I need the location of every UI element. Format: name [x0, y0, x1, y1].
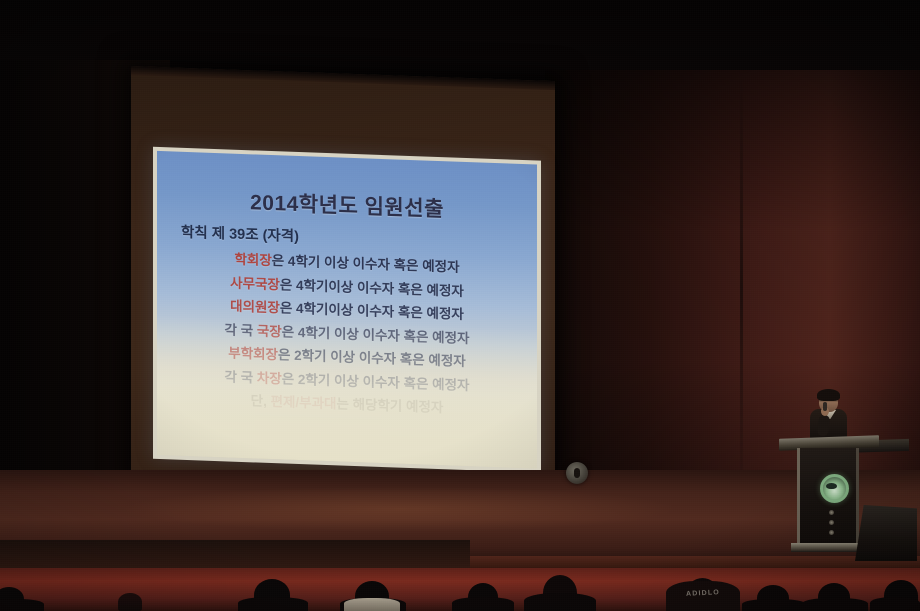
- presenter-hair: [817, 389, 840, 401]
- projected-slide: 2014학년도 임원선출 학칙 제 39조 (자격) 학회장은 4학기 이상 이…: [157, 151, 537, 469]
- bullet-role: 부학회장: [228, 345, 278, 362]
- audience-jacket: ADIDLO: [666, 581, 740, 611]
- bullet-prefix: 각 국: [225, 369, 257, 385]
- podium: [795, 437, 861, 552]
- audience-shoulders: [238, 597, 308, 611]
- stage-floor-sheen: [120, 486, 680, 532]
- podium-body: [797, 448, 859, 545]
- audience-shoulders: [452, 597, 514, 611]
- bullet-rest: 는 해당학기 예정자: [336, 396, 443, 415]
- podium-indicator-light: [829, 510, 834, 515]
- bullet-rest: 은 2학기 이상 이수자 혹은 예정자: [278, 347, 466, 369]
- slide-title: 2014학년도 임원선출: [167, 183, 527, 226]
- audience-scarf: [344, 598, 400, 611]
- presenter: [806, 391, 850, 443]
- audience-head: [118, 593, 142, 611]
- audience-shoulders: [870, 597, 920, 611]
- bullet-role: 대의원장: [230, 299, 280, 316]
- podium-emblem-icon: [820, 474, 849, 503]
- bullet-rest: 은 2학기 이상 이수자 혹은 예정자: [282, 371, 470, 393]
- slide-bullet-list: 학회장은 4학기 이상 이수자 혹은 예정자 사무국장은 4학기이상 이수자 혹…: [167, 245, 527, 419]
- wall-speaker-icon: [566, 462, 588, 484]
- bullet-prefix: 단,: [251, 393, 271, 409]
- audience-shoulders: [0, 599, 44, 611]
- auditorium-photo: 2014학년도 임원선출 학칙 제 39조 (자격) 학회장은 4학기 이상 이…: [0, 0, 920, 611]
- audience-shoulders: [742, 599, 806, 611]
- podium-indicator-light: [829, 520, 834, 525]
- slide-frame: 2014학년도 임원선출 학칙 제 39조 (자격) 학회장은 4학기 이상 이…: [153, 147, 541, 473]
- bullet-rest: 은 4학기이상 이수자 혹은 예정자: [280, 277, 464, 299]
- bullet-rest: 은 4학기 이상 이수자 혹은 예정자: [282, 324, 470, 346]
- bullet-role: 학회장: [235, 252, 272, 268]
- bullet-role: 편제/부과대: [271, 394, 337, 411]
- bullet-rest: 은 4학기이상 이수자 혹은 예정자: [280, 300, 464, 322]
- bullet-role: 국장: [257, 323, 282, 339]
- wall-seam: [740, 72, 743, 502]
- audience-shoulders: [802, 598, 868, 611]
- bullet-rest: 은 4학기 이상 이수자 혹은 예정자: [272, 253, 460, 275]
- projection-screen: 2014학년도 임원선출 학칙 제 39조 (자격) 학회장은 4학기 이상 이…: [131, 66, 555, 495]
- slide-content: 2014학년도 임원선출 학칙 제 39조 (자격) 학회장은 4학기 이상 이…: [157, 151, 537, 469]
- audience-shoulders: [524, 593, 596, 611]
- jacket-text: ADIDLO: [674, 588, 732, 598]
- microphone-icon: [823, 402, 827, 411]
- audience: ADIDLO: [0, 540, 920, 611]
- podium-indicator-light: [829, 530, 834, 535]
- bullet-prefix: 각 국: [225, 322, 257, 338]
- bullet-role: 차장: [257, 370, 282, 386]
- bullet-role: 사무국장: [230, 275, 280, 292]
